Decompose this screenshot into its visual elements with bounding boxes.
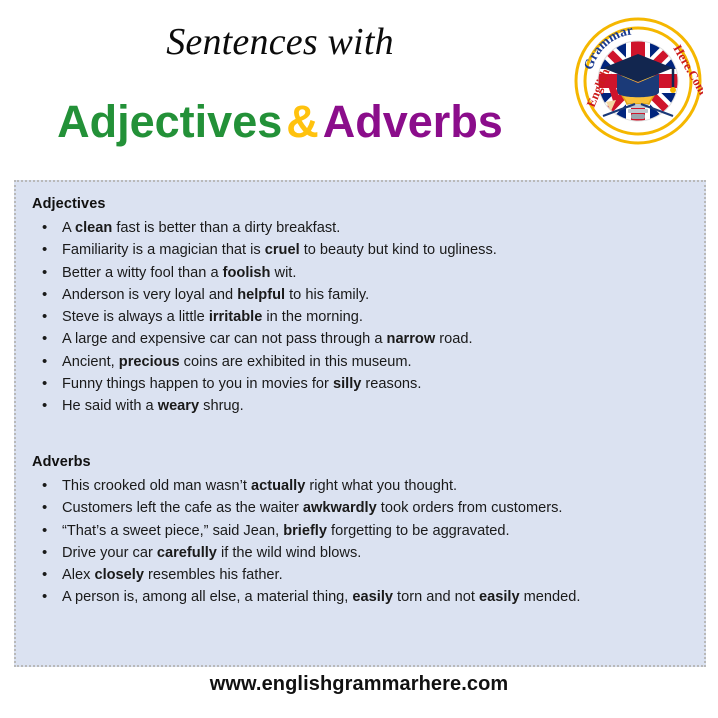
- sentence-text: reasons.: [361, 376, 421, 392]
- list-item: •Funny things happen to you in movies fo…: [16, 373, 708, 395]
- highlight-word: awkwardly: [303, 500, 377, 516]
- page-subtitle: Adjectives&Adverbs: [0, 98, 560, 145]
- subtitle-word-adverbs: Adverbs: [323, 96, 503, 147]
- list-item: •Alex closely resembles his father.: [16, 564, 708, 586]
- bullet-icon: •: [42, 239, 47, 261]
- highlight-word: weary: [158, 398, 199, 414]
- bullet-icon: •: [42, 395, 47, 417]
- sentence-text: Ancient,: [62, 354, 119, 370]
- adjective-sentence-list: •A clean fast is better than a dirty bre…: [16, 217, 708, 418]
- section-adverbs: Adverbs •This crooked old man wasn’t act…: [16, 454, 708, 609]
- sentence-text: resembles his father.: [144, 567, 283, 583]
- sentence-text: Drive your car: [62, 545, 157, 561]
- bullet-icon: •: [42, 306, 47, 328]
- bullet-icon: •: [42, 586, 47, 608]
- sentence-text: fast is better than a dirty breakfast.: [112, 220, 340, 236]
- list-item: •A clean fast is better than a dirty bre…: [16, 217, 708, 239]
- sentence-text: if the wild wind blows.: [217, 545, 361, 561]
- list-item: •Drive your car carefully if the wild wi…: [16, 542, 708, 564]
- list-item: •Customers left the cafe as the waiter a…: [16, 497, 708, 519]
- highlight-word: precious: [119, 354, 180, 370]
- highlight-word: easily: [352, 589, 393, 605]
- footer-url: www.englishgrammarhere.com: [0, 673, 718, 696]
- sentence-text: to beauty but kind to ugliness.: [300, 242, 497, 258]
- bullet-icon: •: [42, 497, 47, 519]
- bullet-icon: •: [42, 328, 47, 350]
- list-item: •Familiarity is a magician that is cruel…: [16, 239, 708, 261]
- sentence-text: right what you thought.: [305, 478, 457, 494]
- list-item: •He said with a weary shrug.: [16, 395, 708, 417]
- sentence-text: in the morning.: [262, 309, 363, 325]
- highlight-word: irritable: [209, 309, 263, 325]
- bullet-icon: •: [42, 217, 47, 239]
- sentence-text: to his family.: [285, 287, 369, 303]
- highlight-word: cruel: [265, 242, 300, 258]
- sentence-text: torn and not: [393, 589, 479, 605]
- sentence-text: This crooked old man wasn’t: [62, 478, 251, 494]
- section-heading-adverbs: Adverbs: [32, 454, 708, 470]
- content-panel: Adjectives •A clean fast is better than …: [14, 180, 706, 667]
- highlight-word: actually: [251, 478, 305, 494]
- list-item: •Ancient, precious coins are exhibited i…: [16, 351, 708, 373]
- highlight-word: briefly: [283, 523, 327, 539]
- sentence-text: A person is, among all else, a material …: [62, 589, 352, 605]
- site-logo-badge: Grammar English Here.Com: [573, 16, 703, 146]
- page-header: Sentences with Adjectives&Adverbs: [0, 0, 718, 178]
- list-item: •Anderson is very loyal and helpful to h…: [16, 284, 708, 306]
- sentence-text: Anderson is very loyal and: [62, 287, 237, 303]
- sentence-text: coins are exhibited in this museum.: [180, 354, 412, 370]
- highlight-word: clean: [75, 220, 112, 236]
- sentence-text: mended.: [520, 589, 581, 605]
- list-item: •A person is, among all else, a material…: [16, 586, 708, 608]
- page-title: Sentences with: [0, 22, 560, 64]
- bullet-icon: •: [42, 475, 47, 497]
- sentence-text: Steve is always a little: [62, 309, 209, 325]
- bullet-icon: •: [42, 564, 47, 586]
- bullet-icon: •: [42, 520, 47, 542]
- list-item: •Steve is always a little irritable in t…: [16, 306, 708, 328]
- list-item: •“That’s a sweet piece,” said Jean, brie…: [16, 520, 708, 542]
- adverb-sentence-list: •This crooked old man wasn’t actually ri…: [16, 475, 708, 609]
- sentence-text: Alex: [62, 567, 94, 583]
- list-item: •Better a witty fool than a foolish wit.: [16, 262, 708, 284]
- sentence-text: Familiarity is a magician that is: [62, 242, 265, 258]
- sentence-text: wit.: [270, 265, 296, 281]
- sentence-text: A: [62, 220, 75, 236]
- highlight-word: easily: [479, 589, 520, 605]
- bullet-icon: •: [42, 542, 47, 564]
- bullet-icon: •: [42, 373, 47, 395]
- sentence-text: road.: [435, 331, 472, 347]
- highlight-word: narrow: [387, 331, 436, 347]
- sentence-text: shrug.: [199, 398, 244, 414]
- sentence-text: forgetting to be aggravated.: [327, 523, 510, 539]
- section-heading-adjectives: Adjectives: [32, 196, 708, 212]
- highlight-word: carefully: [157, 545, 217, 561]
- sentence-text: A large and expensive car can not pass t…: [62, 331, 387, 347]
- highlight-word: helpful: [237, 287, 285, 303]
- sentence-text: Better a witty fool than a: [62, 265, 223, 281]
- list-item: •This crooked old man wasn’t actually ri…: [16, 475, 708, 497]
- list-item: •A large and expensive car can not pass …: [16, 328, 708, 350]
- bullet-icon: •: [42, 351, 47, 373]
- sentence-text: Funny things happen to you in movies for: [62, 376, 333, 392]
- bullet-icon: •: [42, 284, 47, 306]
- subtitle-word-adjectives: Adjectives: [57, 96, 282, 147]
- highlight-word: foolish: [223, 265, 271, 281]
- section-adjectives: Adjectives •A clean fast is better than …: [16, 196, 708, 418]
- highlight-word: silly: [333, 376, 361, 392]
- sentence-text: Customers left the cafe as the waiter: [62, 500, 303, 516]
- sentence-text: He said with a: [62, 398, 158, 414]
- logo-svg: Grammar English Here.Com: [573, 16, 703, 146]
- sentence-text: “That’s a sweet piece,” said Jean,: [62, 523, 283, 539]
- bullet-icon: •: [42, 262, 47, 284]
- sentence-text: took orders from customers.: [377, 500, 563, 516]
- subtitle-ampersand: &: [286, 96, 319, 147]
- highlight-word: closely: [94, 567, 144, 583]
